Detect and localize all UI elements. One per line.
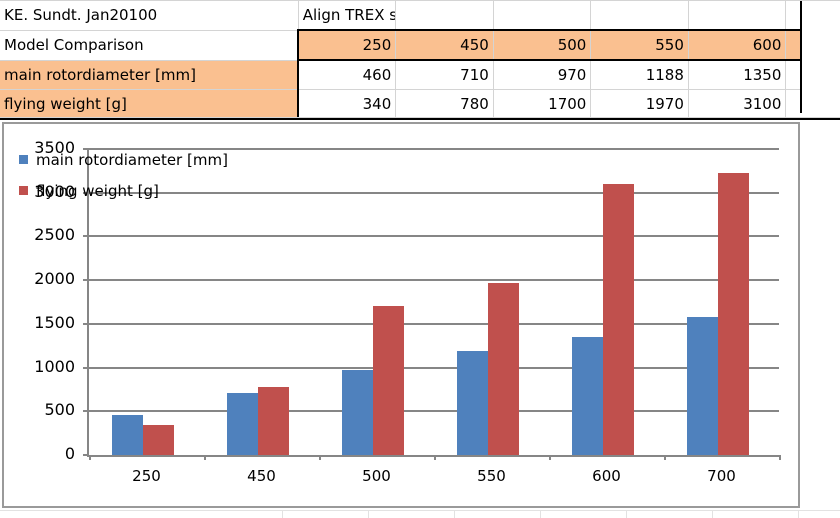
x-axis-tick xyxy=(89,455,91,460)
sheet-gridline xyxy=(798,510,799,518)
table-cell[interactable] xyxy=(493,1,591,30)
x-axis-tick xyxy=(204,455,206,460)
gridline xyxy=(89,323,779,325)
sheet-gridline xyxy=(0,510,840,511)
legend-swatch-icon xyxy=(19,155,28,164)
x-axis-tick xyxy=(779,455,781,460)
bar[interactable] xyxy=(718,173,749,455)
bar[interactable] xyxy=(258,387,289,455)
x-axis-label: 250 xyxy=(107,467,187,485)
row-label-cell[interactable]: main rotordiameter [mm] xyxy=(0,60,298,90)
row-label-cell[interactable]: Model Comparison xyxy=(0,30,298,60)
y-axis-label: 500 xyxy=(15,400,85,419)
x-axis-tick xyxy=(664,455,666,460)
table-cell[interactable] xyxy=(591,1,689,30)
gridline xyxy=(89,367,779,369)
table-cell[interactable]: 780 xyxy=(396,90,494,120)
sheet-gridline xyxy=(368,510,369,518)
x-axis-label: 450 xyxy=(222,467,302,485)
sheet-gridline xyxy=(454,510,455,518)
bar[interactable] xyxy=(342,370,373,455)
table-body: KE. Sundt. Jan20100 Align TREX series Mo… xyxy=(0,1,840,119)
table-row[interactable]: main rotordiameter [mm] 460 710 970 1188… xyxy=(0,60,840,90)
bar[interactable] xyxy=(488,283,519,455)
gridline xyxy=(89,235,779,237)
spreadsheet-table-region: KE. Sundt. Jan20100 Align TREX series Mo… xyxy=(0,0,840,120)
gridline xyxy=(89,410,779,412)
table-cell[interactable]: 1700 xyxy=(493,90,591,120)
row-label-cell[interactable]: flying weight [g] xyxy=(0,90,298,120)
legend-item[interactable]: main rotordiameter [mm] xyxy=(19,144,228,175)
x-axis-tick xyxy=(549,455,551,460)
bar[interactable] xyxy=(687,317,718,455)
table-row[interactable]: flying weight [g] 340 780 1700 1970 3100… xyxy=(0,90,840,120)
x-axis-tick xyxy=(319,455,321,460)
table-row[interactable]: KE. Sundt. Jan20100 Align TREX series xyxy=(0,1,840,30)
x-axis-tick xyxy=(434,455,436,460)
sheet-gridline xyxy=(626,510,627,518)
table-outer-border-right xyxy=(800,0,802,113)
table-cell[interactable]: 340 xyxy=(298,90,396,120)
table-cell[interactable]: 3100 xyxy=(688,90,786,120)
bar[interactable] xyxy=(373,306,404,455)
table-cell[interactable]: 450 xyxy=(396,30,494,60)
table-cell[interactable]: 250 xyxy=(298,30,396,60)
bar[interactable] xyxy=(227,393,258,455)
sheet-gridline xyxy=(540,510,541,518)
y-axis-label: 2000 xyxy=(15,269,85,288)
table-cell[interactable]: 970 xyxy=(493,60,591,90)
bar-chart[interactable]: 0500100015002000250030003500250450500550… xyxy=(2,122,800,508)
table-cell[interactable]: 1350 xyxy=(688,60,786,90)
table-cell[interactable]: 460 xyxy=(298,60,396,90)
sheet-gridline xyxy=(0,117,840,118)
legend-swatch-icon xyxy=(19,186,28,195)
y-axis-label: 0 xyxy=(15,444,85,463)
y-axis-label: 1000 xyxy=(15,357,85,376)
sheet-gridline xyxy=(0,0,840,1)
table-cell[interactable]: 550 xyxy=(591,30,689,60)
table-cell[interactable]: 500 xyxy=(493,30,591,60)
sheet-clip-mask xyxy=(802,0,840,118)
sheet-gridline xyxy=(712,510,713,518)
sheet-gridline xyxy=(282,510,283,518)
table-cell[interactable]: Align TREX series xyxy=(298,1,396,30)
table-cell[interactable]: 1970 xyxy=(591,90,689,120)
y-axis-label: 1500 xyxy=(15,313,85,332)
x-axis-label: 550 xyxy=(452,467,532,485)
legend-label: flying weight [g] xyxy=(36,182,159,200)
gridline xyxy=(89,279,779,281)
table-cell[interactable] xyxy=(396,1,494,30)
chart-legend[interactable]: main rotordiameter [mm] flying weight [g… xyxy=(19,144,228,206)
x-axis-label: 600 xyxy=(567,467,647,485)
table-cell[interactable]: 600 xyxy=(688,30,786,60)
legend-item[interactable]: flying weight [g] xyxy=(19,175,228,206)
bar[interactable] xyxy=(572,337,603,455)
table-cell[interactable]: 1188 xyxy=(591,60,689,90)
bar[interactable] xyxy=(143,425,174,455)
row-label-cell[interactable]: KE. Sundt. Jan20100 xyxy=(0,1,298,30)
data-table: KE. Sundt. Jan20100 Align TREX series Mo… xyxy=(0,1,840,120)
table-row[interactable]: Model Comparison 250 450 500 550 600 700 xyxy=(0,30,840,60)
x-axis-label: 700 xyxy=(682,467,762,485)
bar[interactable] xyxy=(457,351,488,455)
x-axis-label: 500 xyxy=(337,467,417,485)
y-axis-label: 2500 xyxy=(15,225,85,244)
table-cell[interactable]: 710 xyxy=(396,60,494,90)
legend-label: main rotordiameter [mm] xyxy=(36,151,228,169)
table-cell[interactable] xyxy=(688,1,786,30)
bar[interactable] xyxy=(603,184,634,455)
bar[interactable] xyxy=(112,415,143,455)
